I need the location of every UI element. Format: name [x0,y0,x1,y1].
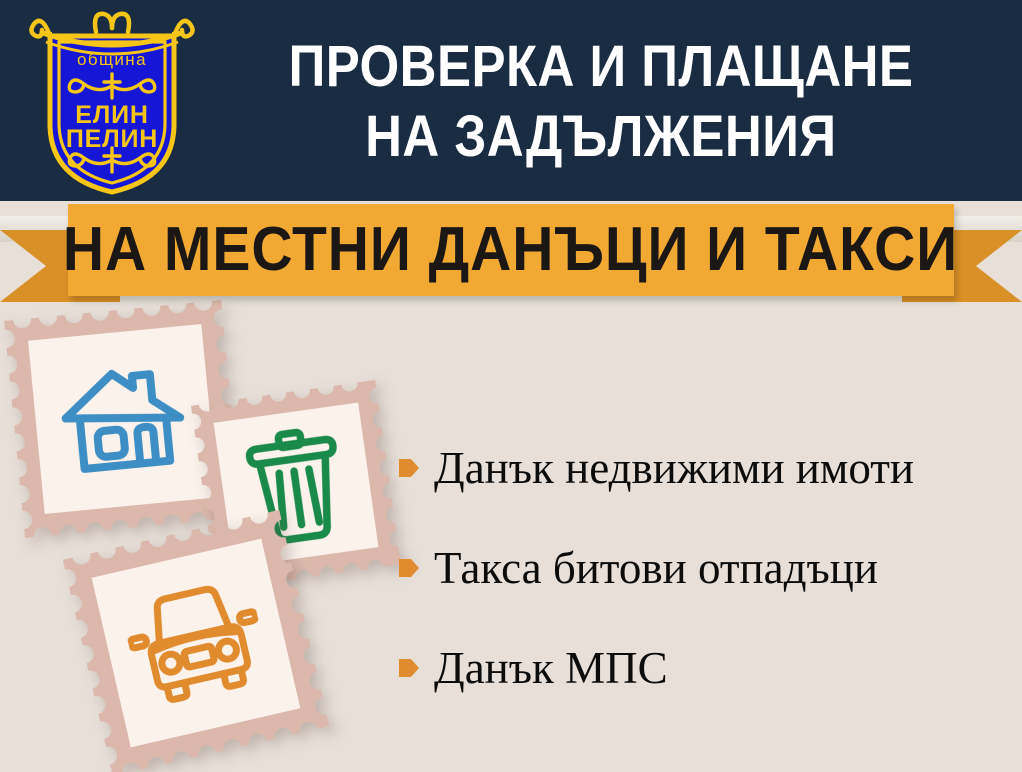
page-title-line-1: ПРОВЕРКА И ПЛАЩАНЕ [289,32,914,102]
arrow-bullet-icon [398,656,420,680]
subtitle-ribbon: НА МЕСТНИ ДАНЪЦИ И ТАКСИ [0,196,1022,306]
list-item-label: Данък недвижими имоти [434,443,914,493]
list-item[interactable]: Данък недвижими имоти [398,418,1018,518]
ribbon-label: НА МЕСТНИ ДАНЪЦИ И ТАКСИ [63,219,958,281]
emblem-top-text: община [77,50,147,69]
ribbon-center-panel: НА МЕСТНИ ДАНЪЦИ И ТАКСИ [68,204,954,296]
poster-root: община ЕЛИН ПЕЛИН ПРОВЕРКА И ПЛАЩАНЕ НА … [0,0,1022,772]
coat-of-arms-shield-icon: община ЕЛИН ПЕЛИН [26,6,198,196]
list-item-label: Такса битови отпадъци [434,543,878,593]
page-title: ПРОВЕРКА И ПЛАЩАНЕ НА ЗАДЪЛЖЕНИЯ [188,18,1014,186]
emblem-name-line2: ПЕЛИН [66,125,158,153]
list-item[interactable]: Такса битови отпадъци [398,518,1018,618]
arrow-bullet-icon [398,456,420,480]
page-title-line-2: НА ЗАДЪЛЖЕНИЯ [365,102,836,172]
stamp-card-group [0,300,420,770]
list-item-label: Данък МПС [434,643,668,693]
tax-type-list: Данък недвижими имоти Такса битови отпад… [398,418,1018,718]
arrow-bullet-icon [398,556,420,580]
municipality-emblem: община ЕЛИН ПЕЛИН [26,6,198,196]
list-item[interactable]: Данък МПС [398,618,1018,718]
